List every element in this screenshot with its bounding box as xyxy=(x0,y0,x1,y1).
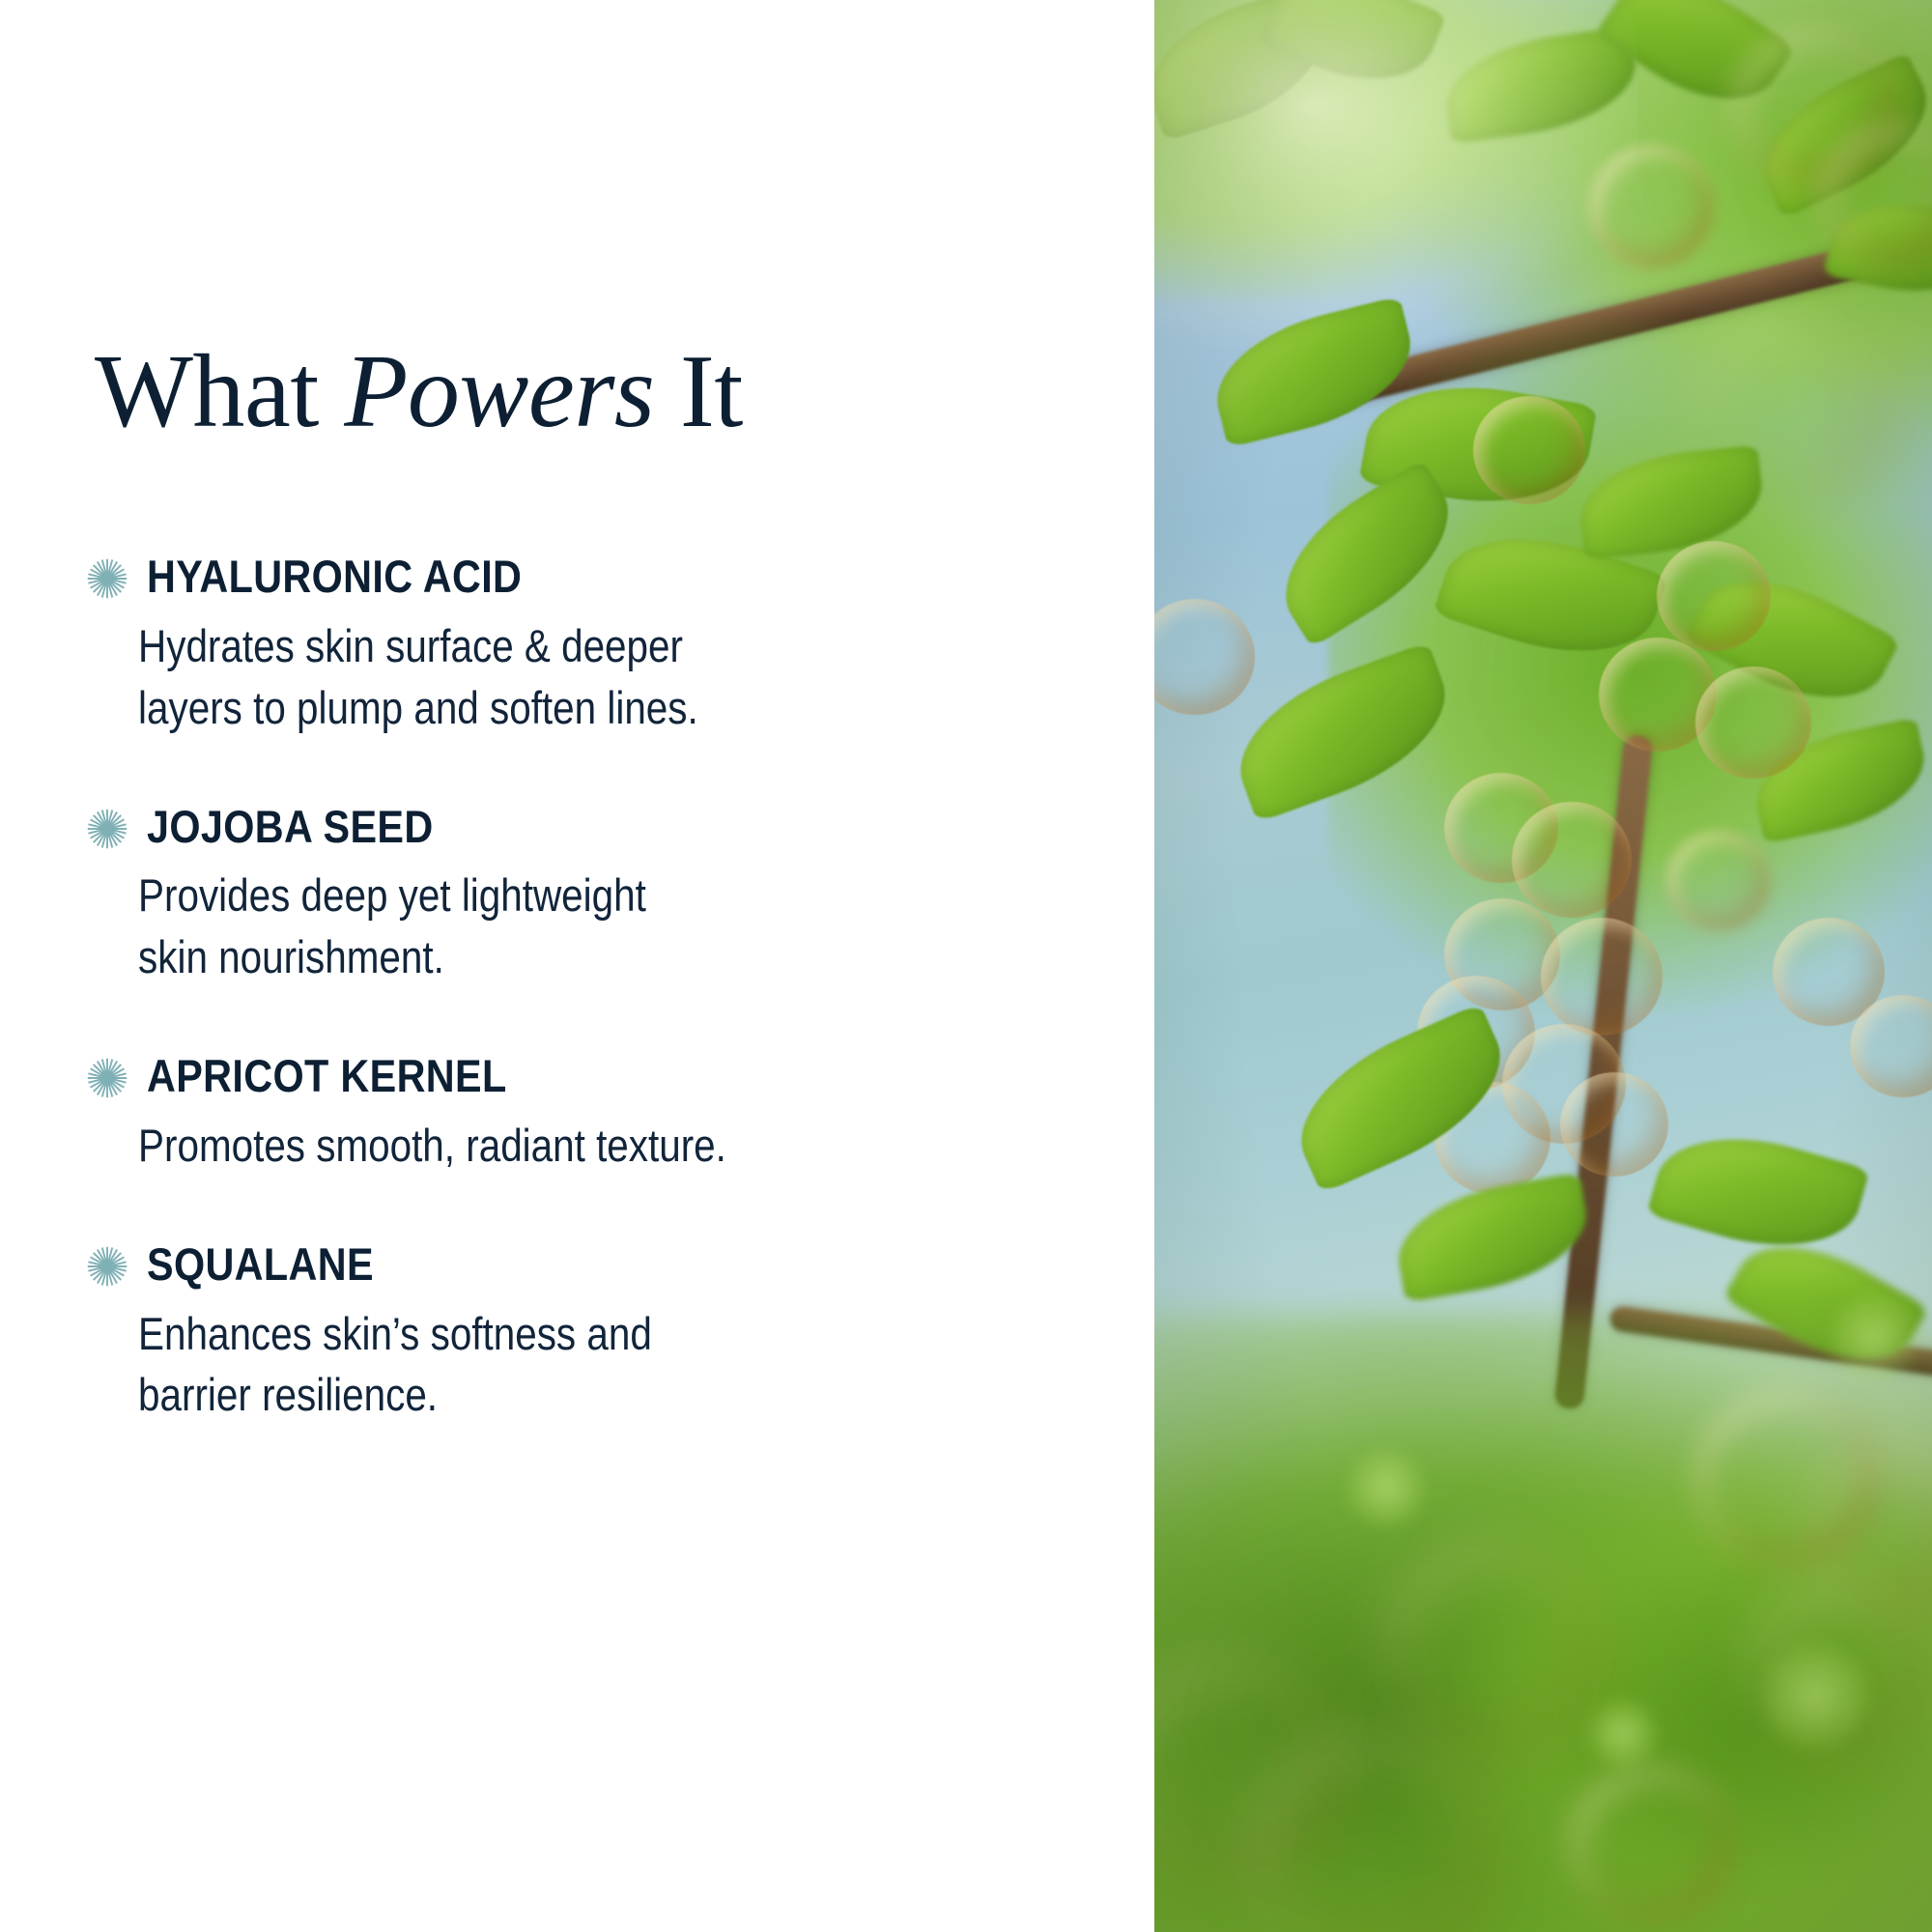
apricot-fruit xyxy=(1666,831,1771,931)
apricot-fruit xyxy=(1512,802,1632,918)
bokeh-highlight xyxy=(1831,1294,1918,1381)
description-line: barrier resilience. xyxy=(138,1364,1128,1426)
headline-emphasis: Powers xyxy=(344,334,654,449)
apricot-fruit xyxy=(1589,145,1715,269)
ingredient-header: HYALURONIC ACID xyxy=(85,553,1061,602)
list-item: SQUALANE Enhances skin’s softness and ba… xyxy=(85,1240,1061,1427)
page-title: What Powers It xyxy=(95,340,743,444)
ingredient-name: HYALURONIC ACID xyxy=(147,553,522,602)
ingredient-description: Hydrates skin surface & deeper layers to… xyxy=(85,615,1128,739)
description-line: Enhances skin’s softness and xyxy=(138,1303,1128,1365)
ingredient-description: Promotes smooth, radiant texture. xyxy=(85,1115,1128,1177)
description-line: Provides deep yet lightweight xyxy=(138,865,1128,926)
list-item: HYALURONIC ACID Hydrates skin surface & … xyxy=(85,553,1061,739)
ingredient-highlight-slide: What Powers It xyxy=(0,0,1932,1932)
apricot-fruit xyxy=(1386,1546,1599,1748)
ingredient-header: SQUALANE xyxy=(85,1240,1061,1290)
description-line: layers to plump and soften lines. xyxy=(138,677,1128,739)
headline-part-2: It xyxy=(654,334,742,449)
ingredient-list: HYALURONIC ACID Hydrates skin surface & … xyxy=(85,553,1061,1426)
bokeh-highlight xyxy=(1589,1700,1657,1768)
apricot-fruit xyxy=(1657,541,1771,651)
ingredient-name: SQUALANE xyxy=(147,1240,374,1290)
text-panel: What Powers It xyxy=(0,0,1154,1932)
bokeh-highlight xyxy=(1763,1642,1869,1748)
ingredient-header: JOJOBA SEED xyxy=(85,803,1061,852)
apricot-fruit xyxy=(1560,1072,1668,1177)
ingredient-description: Enhances skin’s softness and barrier res… xyxy=(85,1303,1128,1427)
starburst-icon xyxy=(85,1056,129,1100)
bokeh-highlight xyxy=(1348,1449,1425,1526)
apricot-fruit xyxy=(1695,667,1811,779)
ingredient-name: JOJOBA SEED xyxy=(147,803,434,852)
description-line: skin nourishment. xyxy=(138,926,1128,988)
list-item: APRICOT KERNEL Promotes smooth, radiant … xyxy=(85,1052,1061,1177)
apricot-fruit xyxy=(1541,918,1662,1036)
apricot-fruit xyxy=(1570,1768,1734,1922)
ingredient-description: Provides deep yet lightweight skin nouri… xyxy=(85,865,1128,988)
headline-part-1: What xyxy=(95,334,344,449)
apricot-fruit xyxy=(1473,396,1585,504)
starburst-icon xyxy=(85,556,129,601)
description-line: Hydrates skin surface & deeper xyxy=(138,615,1128,677)
starburst-icon xyxy=(85,1244,129,1289)
ingredient-name: APRICOT KERNEL xyxy=(147,1052,507,1101)
starburst-icon xyxy=(85,807,129,851)
list-item: JOJOBA SEED Provides deep yet lightweigh… xyxy=(85,803,1061,989)
description-line: Promotes smooth, radiant texture. xyxy=(138,1115,1128,1177)
apricot-tree-photo xyxy=(1154,0,1932,1932)
ingredient-header: APRICOT KERNEL xyxy=(85,1052,1061,1101)
